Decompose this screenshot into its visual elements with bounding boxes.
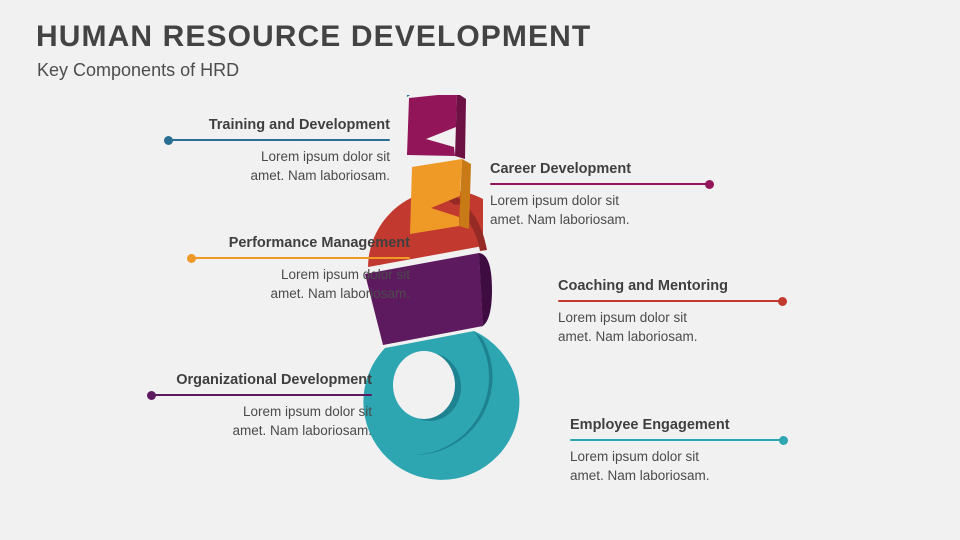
callout-rule <box>570 439 787 441</box>
callout-dot <box>147 391 156 400</box>
callout-body: Lorem ipsum dolor sit amet. Nam laborios… <box>558 308 786 346</box>
callout-dot <box>779 436 788 445</box>
page-subtitle: Key Components of HRD <box>37 60 239 81</box>
callout-dot <box>705 180 714 189</box>
callout-performance-management[interactable]: Performance Management Lorem ipsum dolor… <box>188 234 410 303</box>
callout-title: Coaching and Mentoring <box>558 277 786 295</box>
callout-rule <box>148 394 372 396</box>
callout-dot <box>164 136 173 145</box>
callout-rule <box>165 139 390 141</box>
callout-title: Employee Engagement <box>570 416 787 434</box>
callout-dot <box>778 297 787 306</box>
callout-organizational-development[interactable]: Organizational Development Lorem ipsum d… <box>148 371 372 440</box>
callout-title: Training and Development <box>165 116 390 134</box>
callout-body: Lorem ipsum dolor sit amet. Nam laborios… <box>165 147 390 185</box>
callout-body: Lorem ipsum dolor sit amet. Nam laborios… <box>188 265 410 303</box>
callout-dot <box>187 254 196 263</box>
key-segment-career-development <box>407 95 466 159</box>
callout-title: Organizational Development <box>148 371 372 389</box>
callout-body: Lorem ipsum dolor sit amet. Nam laborios… <box>570 447 787 485</box>
callout-training-and-development[interactable]: Training and Development Lorem ipsum dol… <box>165 116 390 185</box>
callout-rule <box>188 257 410 259</box>
callout-rule <box>490 183 713 185</box>
callout-rule <box>558 300 786 302</box>
page-title: HUMAN RESOURCE DEVELOPMENT <box>36 20 591 54</box>
callout-body: Lorem ipsum dolor sit amet. Nam laborios… <box>490 191 713 229</box>
callout-employee-engagement[interactable]: Employee Engagement Lorem ipsum dolor si… <box>570 416 787 485</box>
callout-body: Lorem ipsum dolor sit amet. Nam laborios… <box>148 402 372 440</box>
callout-title: Career Development <box>490 160 713 178</box>
callout-title: Performance Management <box>188 234 410 252</box>
slide-canvas: HUMAN RESOURCE DEVELOPMENT Key Component… <box>0 0 960 540</box>
callout-career-development[interactable]: Career Development Lorem ipsum dolor sit… <box>490 160 713 229</box>
callout-coaching-and-mentoring[interactable]: Coaching and Mentoring Lorem ipsum dolor… <box>558 277 786 346</box>
key-segment-performance-management <box>410 159 471 234</box>
